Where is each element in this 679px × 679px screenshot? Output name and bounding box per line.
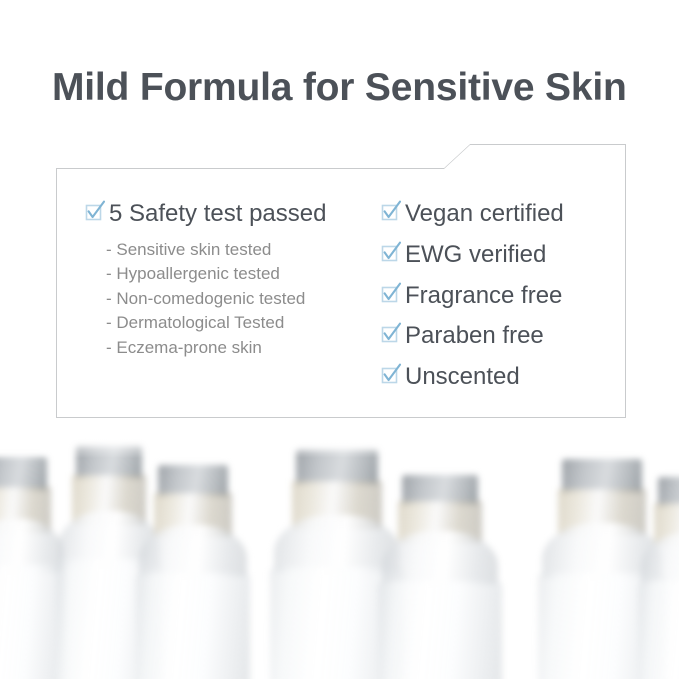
claim-label: Vegan certified	[405, 200, 564, 228]
photo-top-fade	[0, 432, 679, 458]
claim-label: EWG verified	[405, 241, 546, 269]
product-claims-banner: Mild Formula for Sensitive Skin 5 Safety…	[0, 0, 679, 679]
bottle	[636, 469, 679, 679]
bottle	[376, 469, 504, 679]
list-item: - Sensitive skin tested	[106, 238, 374, 262]
bottle	[134, 459, 252, 679]
claim-row-fragrance-free: Fragrance free	[380, 282, 620, 310]
checkbox-checked-icon	[380, 246, 397, 263]
product-photo	[0, 432, 679, 679]
list-item: - Dermatological Tested	[106, 311, 374, 335]
claim-label: Paraben free	[405, 322, 544, 350]
photo-blur-layer	[0, 432, 679, 679]
claim-sub-list: - Sensitive skin tested - Hypoallergenic…	[106, 238, 374, 360]
list-item: - Non-comedogenic tested	[106, 287, 374, 311]
claim-headline-row: 5 Safety test passed	[84, 200, 374, 228]
checkbox-checked-icon	[380, 205, 397, 222]
checkbox-checked-icon	[84, 205, 101, 222]
checkbox-checked-icon	[380, 327, 397, 344]
claim-label: Fragrance free	[405, 282, 562, 310]
list-item: - Eczema-prone skin	[106, 336, 374, 360]
claim-row-paraben-free: Paraben free	[380, 322, 620, 350]
checkbox-checked-icon	[380, 287, 397, 304]
claims-left-column: 5 Safety test passed - Sensitive skin te…	[84, 200, 374, 360]
claim-label: Unscented	[405, 363, 520, 391]
claim-headline-label: 5 Safety test passed	[109, 200, 326, 228]
claim-row-unscented: Unscented	[380, 363, 620, 391]
claims-right-column: Vegan certified EWG verified	[380, 200, 620, 391]
claim-row-vegan-certified: Vegan certified	[380, 200, 620, 228]
checkbox-checked-icon	[380, 368, 397, 385]
claim-row-ewg-verified: EWG verified	[380, 241, 620, 269]
claims-card: 5 Safety test passed - Sensitive skin te…	[56, 144, 626, 418]
page-title: Mild Formula for Sensitive Skin	[52, 66, 652, 111]
list-item: - Hypoallergenic tested	[106, 262, 374, 286]
